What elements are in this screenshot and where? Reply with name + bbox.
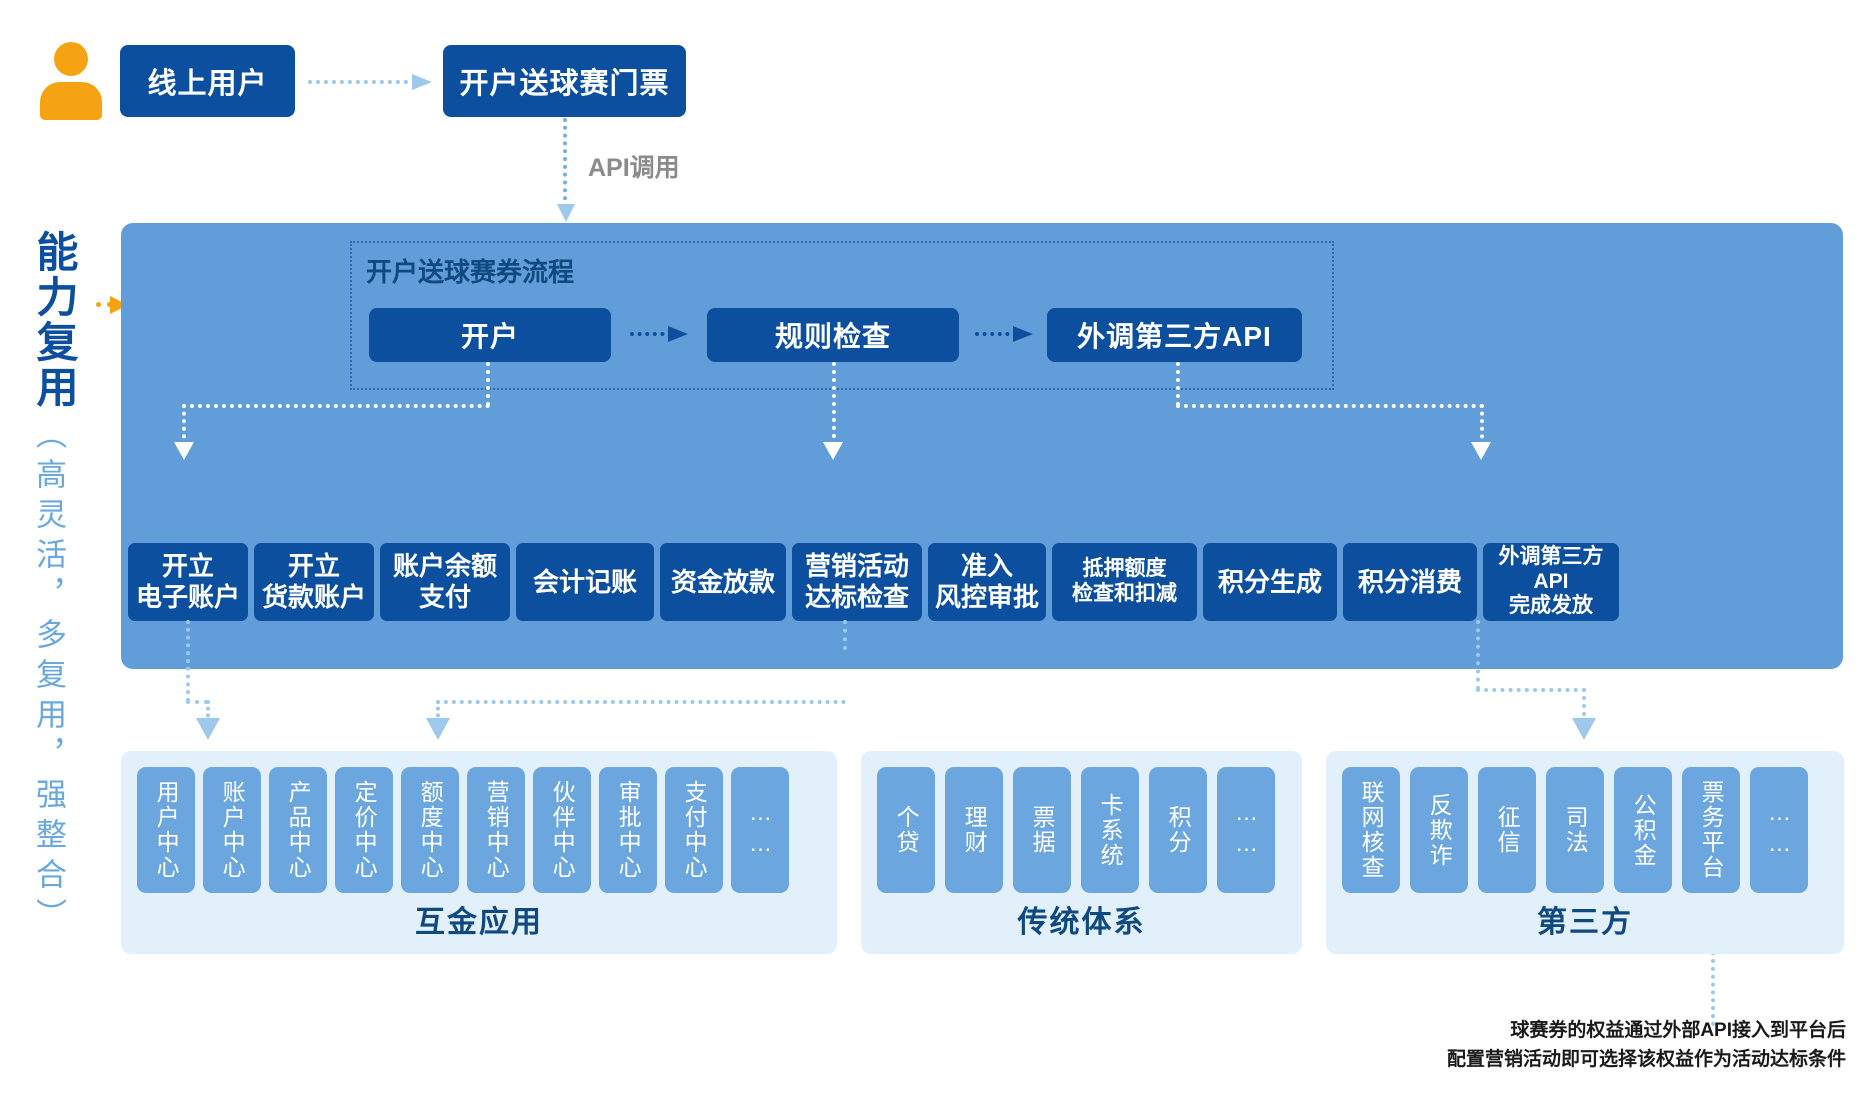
- connector-kaihu-to-account: [176, 362, 496, 472]
- capability-chip-line: 完成发放: [1483, 594, 1619, 619]
- connector-segment: [1476, 620, 1480, 690]
- connector-panel-to-thirdparty: [1470, 620, 1590, 740]
- capability-chip-line: 支付: [393, 582, 497, 613]
- connector-panel-to-huijin-b: [430, 620, 850, 740]
- group-2-more[interactable]: ……: [1750, 767, 1808, 893]
- group-0-item-5[interactable]: 营销中心: [467, 767, 525, 893]
- capability-chip-line: 货款账户: [262, 582, 366, 613]
- capability-chip-line: 积分消费: [1358, 567, 1462, 598]
- group-2-item-4[interactable]: 公积金: [1614, 767, 1672, 893]
- capability-chip-7[interactable]: 抵押额度检查和扣减: [1052, 543, 1197, 621]
- group-0-item-7[interactable]: 审批中心: [599, 767, 657, 893]
- caption-sub-text: （高灵活，多复用，强整合）: [33, 418, 64, 938]
- group-item-label: 账户中心: [220, 780, 244, 880]
- connector-segment: [186, 620, 190, 702]
- group-1-item-4[interactable]: 积分: [1149, 767, 1207, 893]
- capability-chip-4[interactable]: 资金放款: [660, 543, 786, 621]
- group-item-label: 支付中心: [682, 780, 706, 880]
- arrow-ticket-to-panel-icon: [557, 118, 575, 230]
- capability-chip-line: 检查和扣减: [1072, 582, 1177, 607]
- group-more-label: ……: [747, 799, 774, 861]
- flow-step-2[interactable]: 外调第三方API: [1047, 308, 1302, 362]
- connector-segment: [182, 404, 186, 446]
- capability-chip-line: 抵押额度: [1072, 557, 1177, 582]
- capability-chip-line: 开立: [262, 551, 366, 582]
- api-call-label: API调用: [588, 148, 680, 184]
- connector-stub-middle: [840, 620, 850, 660]
- capability-chip-2[interactable]: 账户余额支付: [380, 543, 510, 621]
- group-0-item-6[interactable]: 伙伴中心: [533, 767, 591, 893]
- ticket-offer-box[interactable]: 开户送球赛门票: [443, 45, 686, 117]
- arrow-user-to-ticket-icon: [308, 74, 440, 90]
- flow-step-1[interactable]: 规则检查: [707, 308, 959, 362]
- group-title: 第三方: [1326, 897, 1844, 941]
- group-item-label: 票据: [1030, 805, 1054, 855]
- capability-chip-line: 积分生成: [1218, 567, 1322, 598]
- connector-arrow-head: [1471, 442, 1491, 460]
- arrow-head: [412, 74, 432, 90]
- group-item-label: 理财: [962, 805, 986, 855]
- connector-arrow-head: [174, 442, 194, 460]
- group-1-item-1[interactable]: 理财: [945, 767, 1003, 893]
- capability-chip-line: 账户余额: [393, 551, 497, 582]
- capability-chip-line: 资金放款: [671, 567, 775, 598]
- connector-segment: [1480, 404, 1484, 446]
- group-item-label: 征信: [1495, 805, 1519, 855]
- connector-rule-to-marketing: [826, 362, 846, 472]
- group-0-item-8[interactable]: 支付中心: [665, 767, 723, 893]
- group-title: 传统体系: [861, 897, 1302, 941]
- group-item-label: 产品中心: [286, 780, 310, 880]
- group-panel-thirdparty: 第三方 联网核查反欺诈征信司法公积金票务平台……: [1326, 751, 1844, 954]
- group-more-label: ……: [1233, 799, 1260, 861]
- group-item-label: 司法: [1563, 805, 1587, 855]
- person-head-icon: [54, 42, 88, 76]
- group-more-label: ……: [1766, 799, 1793, 861]
- connector-arrow-head: [1572, 718, 1596, 740]
- group-item-label: 审批中心: [616, 780, 640, 880]
- group-0-item-2[interactable]: 产品中心: [269, 767, 327, 893]
- group-2-item-1[interactable]: 反欺诈: [1410, 767, 1468, 893]
- capability-chip-6[interactable]: 准入风控审批: [928, 543, 1046, 621]
- flow-arrow-1-icon: [975, 326, 1035, 342]
- group-item-label: 定价中心: [352, 780, 376, 880]
- footer-note-line-1: 球赛券的权益通过外部API接入到平台后: [1447, 1016, 1846, 1045]
- capability-chip-5[interactable]: 营销活动达标检查: [792, 543, 922, 621]
- capability-chip-line: 开立: [136, 551, 240, 582]
- arrow-head: [668, 326, 688, 342]
- connector-segment: [486, 362, 490, 406]
- flow-arrow-0-icon: [630, 326, 690, 342]
- capability-chip-line: 电子账户: [136, 582, 240, 613]
- connector-panel-to-huijin-a: [180, 620, 260, 740]
- group-item-label: 伙伴中心: [550, 780, 574, 880]
- connector-segment: [436, 700, 846, 704]
- capability-chip-line: 会计记账: [533, 567, 637, 598]
- group-item-label: 卡系统: [1098, 793, 1122, 868]
- group-item-label: 额度中心: [418, 780, 442, 880]
- arrow-line: [630, 332, 672, 336]
- group-title: 互金应用: [121, 897, 837, 941]
- group-item-label: 票务平台: [1699, 780, 1723, 880]
- group-item-label: 联网核查: [1359, 780, 1383, 880]
- group-0-item-3[interactable]: 定价中心: [335, 767, 393, 893]
- connector-segment: [1176, 404, 1484, 408]
- capability-chip-8[interactable]: 积分生成: [1203, 543, 1337, 621]
- connector-arrow-head: [196, 718, 220, 740]
- group-1-item-2[interactable]: 票据: [1013, 767, 1071, 893]
- footer-note: 球赛券的权益通过外部API接入到平台后 配置营销活动即可选择该权益作为活动达标条…: [1447, 1016, 1846, 1075]
- group-item-label: 反欺诈: [1427, 793, 1451, 868]
- capability-chip-0[interactable]: 开立电子账户: [128, 543, 248, 621]
- capability-chip-line: 风控审批: [935, 582, 1039, 613]
- connector-segment: [182, 404, 490, 408]
- group-0-more[interactable]: ……: [731, 767, 789, 893]
- arrow-line: [563, 118, 567, 208]
- group-item-label: 公积金: [1631, 793, 1655, 868]
- capability-chip-line: 营销活动: [805, 551, 909, 582]
- capability-chip-9[interactable]: 积分消费: [1343, 543, 1477, 621]
- caption-main-text: 能力复用: [33, 230, 75, 410]
- group-2-item-0[interactable]: 联网核查: [1342, 767, 1400, 893]
- capability-chip-10[interactable]: 外调第三方API完成发放: [1483, 543, 1619, 621]
- group-2-item-5[interactable]: 票务平台: [1682, 767, 1740, 893]
- group-2-item-2[interactable]: 征信: [1478, 767, 1536, 893]
- capability-chip-1[interactable]: 开立货款账户: [254, 543, 374, 621]
- flow-step-0[interactable]: 开户: [369, 308, 611, 362]
- group-1-item-3[interactable]: 卡系统: [1081, 767, 1139, 893]
- capability-chip-line: 准入: [935, 551, 1039, 582]
- group-0-item-1[interactable]: 账户中心: [203, 767, 261, 893]
- connector-segment: [843, 620, 847, 650]
- connector-arrow-head: [823, 442, 843, 460]
- capability-chip-3[interactable]: 会计记账: [516, 543, 654, 621]
- capability-chip-line: 达标检查: [805, 582, 909, 613]
- group-item-label: 积分: [1166, 805, 1190, 855]
- arrow-head: [1013, 326, 1033, 342]
- online-user-box[interactable]: 线上用户: [120, 45, 295, 117]
- connector-segment: [832, 362, 836, 446]
- capability-chip-line: 外调第三方API: [1483, 545, 1619, 595]
- arrow-line: [975, 332, 1017, 336]
- group-item-label: 用户中心: [154, 780, 178, 880]
- connector-segment: [186, 700, 208, 704]
- arrow-head: [557, 204, 575, 222]
- arrow-line: [308, 80, 416, 84]
- connector-segment: [1476, 688, 1586, 692]
- connector-api-to-issue: [1170, 362, 1500, 472]
- group-panel-huijin: 互金应用 用户中心账户中心产品中心定价中心额度中心营销中心伙伴中心审批中心支付中…: [121, 751, 837, 954]
- group-1-more[interactable]: ……: [1217, 767, 1275, 893]
- group-0-item-0[interactable]: 用户中心: [137, 767, 195, 893]
- footer-note-line-2: 配置营销活动即可选择该权益作为活动达标条件: [1447, 1045, 1846, 1074]
- connector-arrow-head: [426, 718, 450, 740]
- group-item-label: 个贷: [894, 805, 918, 855]
- group-item-label: 营销中心: [484, 780, 508, 880]
- user-person-icon: [40, 42, 102, 120]
- group-0-item-4[interactable]: 额度中心: [401, 767, 459, 893]
- connector-segment: [1176, 362, 1180, 406]
- capability-reuse-caption: 能力复用 （高灵活，多复用，强整合）: [33, 230, 93, 938]
- flow-title: 开户送球赛券流程: [366, 252, 574, 289]
- group-1-item-0[interactable]: 个贷: [877, 767, 935, 893]
- group-2-item-3[interactable]: 司法: [1546, 767, 1604, 893]
- person-body-icon: [40, 82, 102, 120]
- group-panel-traditional: 传统体系 个贷理财票据卡系统积分……: [861, 751, 1302, 954]
